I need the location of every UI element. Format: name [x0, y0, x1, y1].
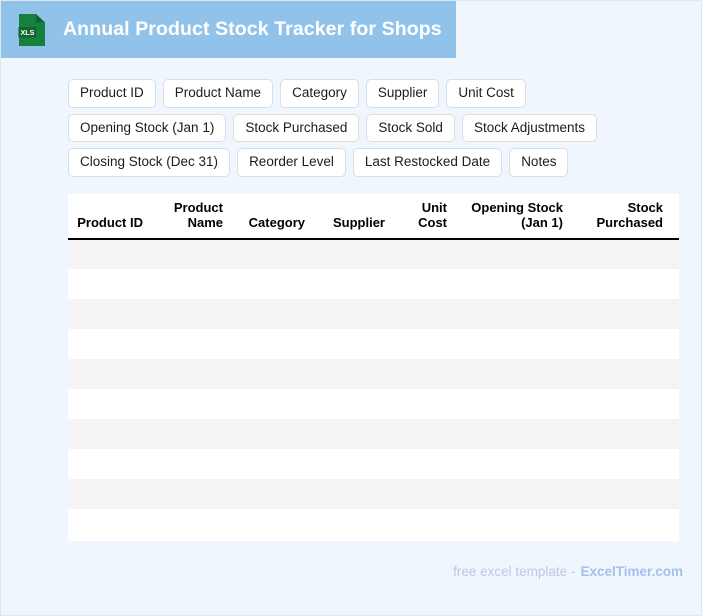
stock-table-header: Product ID Product Name Category Supplie…: [68, 194, 679, 239]
table-cell[interactable]: [314, 389, 394, 419]
column-header-stock-purchased[interactable]: Stock Purchased: [572, 194, 672, 239]
table-row[interactable]: [68, 239, 679, 269]
table-row[interactable]: [68, 359, 679, 389]
table-cell[interactable]: [394, 239, 456, 269]
table-cell[interactable]: [314, 449, 394, 479]
app-header: XLS Annual Product Stock Tracker for Sho…: [1, 1, 456, 58]
table-cell[interactable]: [152, 449, 232, 479]
svg-text:XLS: XLS: [21, 27, 35, 36]
table-cell[interactable]: [314, 419, 394, 449]
stock-table: Product ID Product Name Category Supplie…: [68, 194, 679, 539]
table-cell[interactable]: [672, 449, 679, 479]
field-pill-notes[interactable]: Notes: [509, 148, 568, 177]
table-cell[interactable]: [68, 239, 152, 269]
column-header-supplier[interactable]: Supplier: [314, 194, 394, 239]
footer-text: free excel template -: [453, 564, 575, 579]
table-cell[interactable]: [572, 239, 672, 269]
table-cell[interactable]: [152, 359, 232, 389]
table-cell[interactable]: [232, 269, 314, 299]
table-cell[interactable]: [672, 269, 679, 299]
table-cell[interactable]: [68, 359, 152, 389]
table-cell[interactable]: [232, 419, 314, 449]
xls-file-icon: XLS: [18, 13, 46, 47]
table-cell[interactable]: [456, 509, 572, 539]
table-cell[interactable]: [152, 479, 232, 509]
table-cell[interactable]: [394, 419, 456, 449]
table-cell[interactable]: [572, 449, 672, 479]
field-pill-stock-adjustments[interactable]: Stock Adjustments: [462, 114, 597, 143]
table-row[interactable]: [68, 419, 679, 449]
table-cell[interactable]: [314, 239, 394, 269]
table-cell[interactable]: [314, 509, 394, 539]
field-pill-unit-cost[interactable]: Unit Cost: [446, 79, 526, 108]
table-cell[interactable]: [456, 449, 572, 479]
column-header-product-name[interactable]: Product Name: [152, 194, 232, 239]
table-cell[interactable]: [232, 389, 314, 419]
table-cell[interactable]: [152, 509, 232, 539]
table-cell[interactable]: [456, 239, 572, 269]
table-cell[interactable]: [672, 479, 679, 509]
table-cell[interactable]: [232, 479, 314, 509]
table-cell[interactable]: [152, 299, 232, 329]
table-cell[interactable]: [672, 329, 679, 359]
table-cell[interactable]: [152, 329, 232, 359]
table-cell[interactable]: [394, 299, 456, 329]
table-cell[interactable]: [152, 419, 232, 449]
table-cell[interactable]: [232, 449, 314, 479]
table-cell[interactable]: [68, 479, 152, 509]
field-pill-row-3: Closing Stock (Dec 31) Reorder Level Las…: [68, 148, 648, 177]
table-cell[interactable]: [456, 329, 572, 359]
field-pill-product-name[interactable]: Product Name: [163, 79, 273, 108]
footer-brand-link[interactable]: ExcelTimer.com: [580, 564, 683, 579]
field-pill-supplier[interactable]: Supplier: [366, 79, 440, 108]
field-pill-stock-purchased[interactable]: Stock Purchased: [233, 114, 359, 143]
table-cell[interactable]: [394, 449, 456, 479]
table-row[interactable]: [68, 479, 679, 509]
stock-table-header-row: Product ID Product Name Category Supplie…: [68, 194, 679, 239]
field-pill-reorder-level[interactable]: Reorder Level: [237, 148, 346, 177]
table-cell[interactable]: [572, 359, 672, 389]
column-header-product-id[interactable]: Product ID: [68, 194, 152, 239]
table-cell[interactable]: [672, 299, 679, 329]
field-pill-product-id[interactable]: Product ID: [68, 79, 156, 108]
footer-attribution: free excel template -ExcelTimer.com: [453, 564, 683, 579]
table-cell[interactable]: [394, 329, 456, 359]
stock-table-body: [68, 239, 679, 539]
table-cell[interactable]: [572, 509, 672, 539]
column-header-category[interactable]: Category: [232, 194, 314, 239]
page-title: Annual Product Stock Tracker for Shops: [63, 20, 442, 40]
table-cell[interactable]: [314, 359, 394, 389]
table-cell[interactable]: [68, 329, 152, 359]
field-pill-row-1: Product ID Product Name Category Supplie…: [68, 79, 648, 108]
table-cell[interactable]: [152, 269, 232, 299]
table-cell[interactable]: [572, 299, 672, 329]
table-cell[interactable]: [572, 389, 672, 419]
field-pill-group: Product ID Product Name Category Supplie…: [68, 79, 648, 183]
field-pill-row-2: Opening Stock (Jan 1) Stock Purchased St…: [68, 114, 648, 143]
column-header-opening-stock[interactable]: Opening Stock (Jan 1): [456, 194, 572, 239]
column-header-unit-cost[interactable]: Unit Cost: [394, 194, 456, 239]
table-cell[interactable]: [394, 269, 456, 299]
page-root: XLS Annual Product Stock Tracker for Sho…: [0, 0, 702, 616]
table-cell[interactable]: [152, 389, 232, 419]
table-cell[interactable]: [456, 479, 572, 509]
field-pill-closing-stock[interactable]: Closing Stock (Dec 31): [68, 148, 230, 177]
table-cell[interactable]: [68, 449, 152, 479]
table-cell[interactable]: [232, 299, 314, 329]
column-header-stock-sold[interactable]: Stock Sold: [672, 194, 679, 239]
table-cell[interactable]: [394, 389, 456, 419]
table-cell[interactable]: [672, 239, 679, 269]
table-cell[interactable]: [572, 419, 672, 449]
table-cell[interactable]: [68, 269, 152, 299]
table-cell[interactable]: [232, 359, 314, 389]
table-cell[interactable]: [314, 269, 394, 299]
table-cell[interactable]: [232, 239, 314, 269]
field-pill-stock-sold[interactable]: Stock Sold: [366, 114, 455, 143]
table-cell[interactable]: [232, 329, 314, 359]
table-cell[interactable]: [572, 269, 672, 299]
table-row[interactable]: [68, 269, 679, 299]
field-pill-category[interactable]: Category: [280, 79, 359, 108]
table-cell[interactable]: [68, 419, 152, 449]
table-row[interactable]: [68, 509, 679, 539]
table-row[interactable]: [68, 299, 679, 329]
table-cell[interactable]: [314, 299, 394, 329]
table-cell[interactable]: [456, 359, 572, 389]
table-cell[interactable]: [672, 359, 679, 389]
field-pill-last-restocked-date[interactable]: Last Restocked Date: [353, 148, 502, 177]
table-cell[interactable]: [68, 389, 152, 419]
table-cell[interactable]: [672, 509, 679, 539]
table-cell[interactable]: [456, 419, 572, 449]
table-cell[interactable]: [456, 389, 572, 419]
table-row[interactable]: [68, 329, 679, 359]
table-cell[interactable]: [68, 509, 152, 539]
stock-table-container: Product ID Product Name Category Supplie…: [68, 194, 679, 541]
table-cell[interactable]: [456, 269, 572, 299]
field-pill-opening-stock[interactable]: Opening Stock (Jan 1): [68, 114, 226, 143]
table-cell[interactable]: [152, 239, 232, 269]
table-row[interactable]: [68, 389, 679, 419]
table-cell[interactable]: [232, 509, 314, 539]
table-cell[interactable]: [672, 389, 679, 419]
table-cell[interactable]: [394, 359, 456, 389]
table-cell[interactable]: [456, 299, 572, 329]
table-cell[interactable]: [68, 299, 152, 329]
table-cell[interactable]: [672, 419, 679, 449]
table-cell[interactable]: [394, 479, 456, 509]
table-cell[interactable]: [572, 479, 672, 509]
table-row[interactable]: [68, 449, 679, 479]
table-cell[interactable]: [314, 479, 394, 509]
table-cell[interactable]: [394, 509, 456, 539]
table-cell[interactable]: [314, 329, 394, 359]
table-cell[interactable]: [572, 329, 672, 359]
